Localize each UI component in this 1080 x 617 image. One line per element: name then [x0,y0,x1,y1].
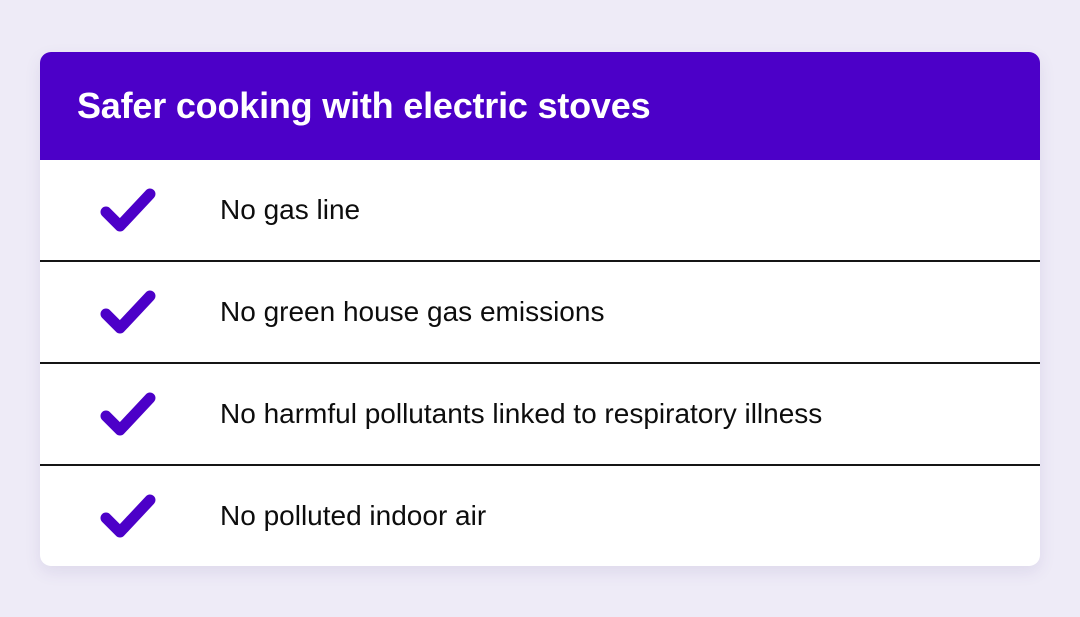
page-canvas: Safer cooking with electric stoves No ga… [0,0,1080,617]
list-item-label: No gas line [220,193,360,227]
check-icon [100,493,160,539]
check-icon [100,289,160,335]
list-item: No harmful pollutants linked to respirat… [40,362,1040,464]
card-title: Safer cooking with electric stoves [77,86,650,126]
list-item-label: No harmful pollutants linked to respirat… [220,397,822,431]
list-item: No gas line [40,160,1040,260]
list-item: No green house gas emissions [40,260,1040,362]
card-header: Safer cooking with electric stoves [40,52,1040,160]
list-item: No polluted indoor air [40,464,1040,566]
list-item-label: No green house gas emissions [220,295,604,329]
check-icon [100,391,160,437]
feature-list: No gas line No green house gas emissions… [40,160,1040,566]
list-item-label: No polluted indoor air [220,499,486,533]
check-icon [100,187,160,233]
benefits-card: Safer cooking with electric stoves No ga… [40,52,1040,566]
